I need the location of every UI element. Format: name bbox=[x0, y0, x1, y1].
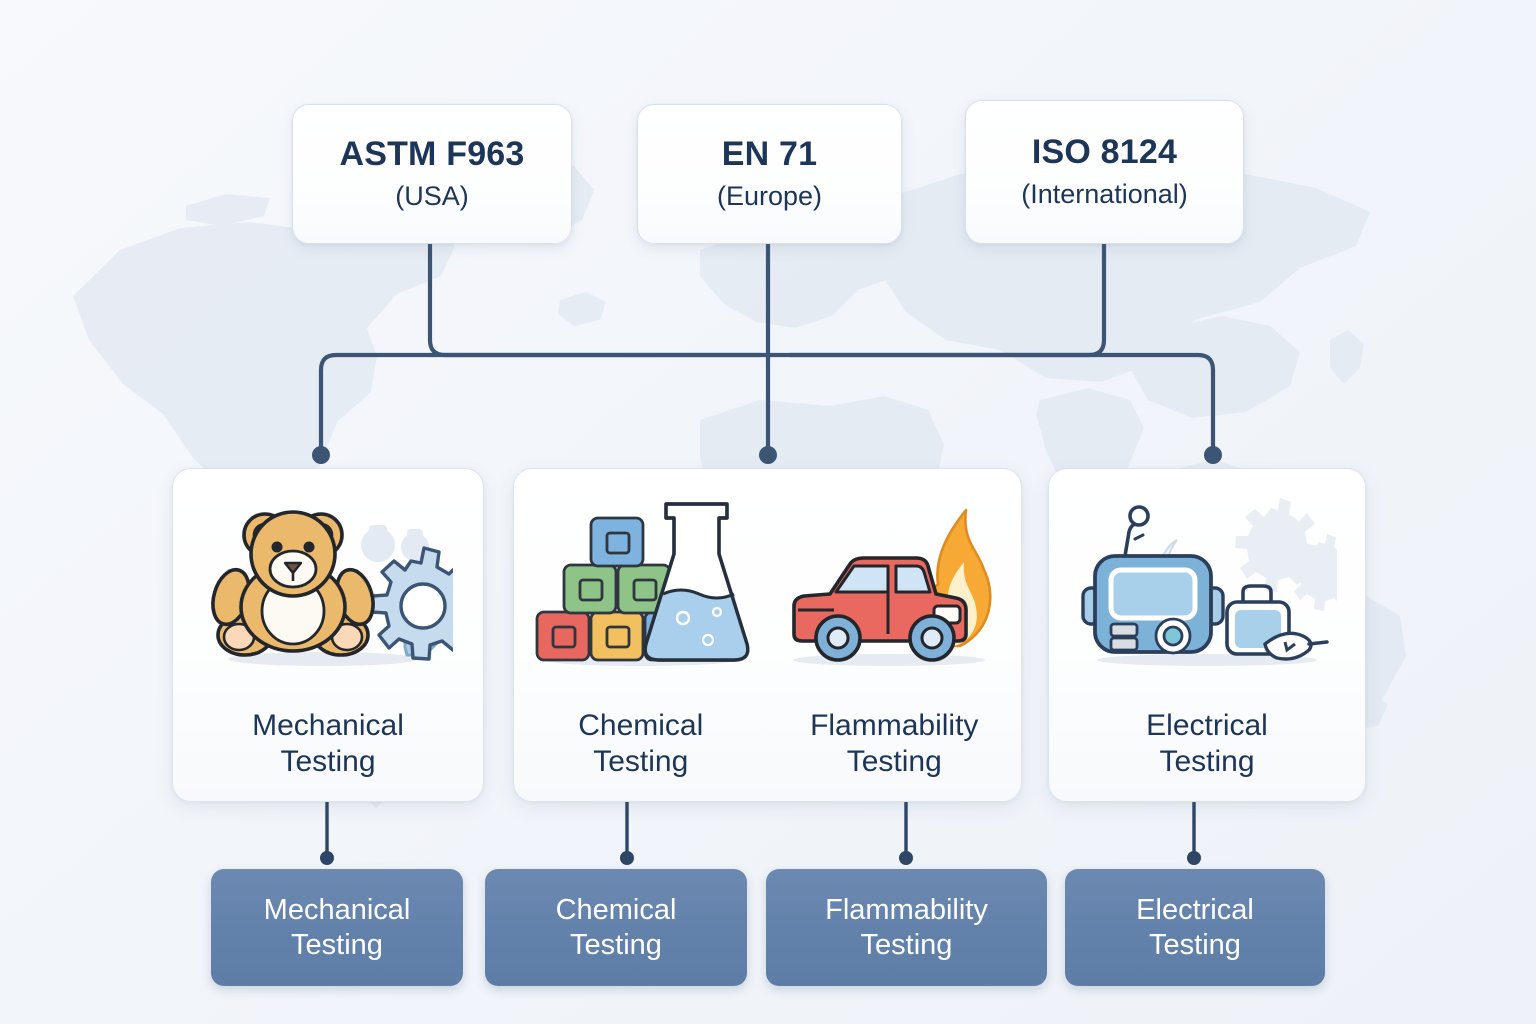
test-label-chemical: Chemical Testing bbox=[578, 708, 703, 779]
teddy-bear-gear-icon bbox=[203, 499, 453, 674]
test-card-mechanical[interactable]: Mechanical Testing bbox=[172, 468, 484, 802]
chip-label: ElectricalTesting bbox=[1136, 893, 1254, 963]
standard-card-astm-f963[interactable]: ASTM F963 (USA) bbox=[292, 104, 572, 244]
test-label-flammability: Flammability Testing bbox=[810, 708, 978, 779]
standard-region: (USA) bbox=[395, 182, 469, 210]
chip-flammability-testing[interactable]: FlammabilityTesting bbox=[766, 869, 1047, 986]
test-card-chemical-flammability[interactable]: Chemical Testing Flammability Testing bbox=[513, 468, 1022, 802]
diagram-canvas: ASTM F963 (USA) EN 71 (Europe) ISO 8124 … bbox=[0, 0, 1536, 1024]
standard-region: (International) bbox=[1021, 180, 1188, 208]
chip-chemical-testing[interactable]: ChemicalTesting bbox=[485, 869, 747, 986]
chip-label: ChemicalTesting bbox=[556, 893, 677, 963]
test-label-electrical: Electrical Testing bbox=[1146, 708, 1268, 779]
standard-card-iso-8124[interactable]: ISO 8124 (International) bbox=[965, 100, 1244, 244]
chip-label: MechanicalTesting bbox=[264, 893, 411, 963]
chip-label: FlammabilityTesting bbox=[825, 893, 988, 963]
standard-title: EN 71 bbox=[722, 137, 818, 173]
standard-card-en-71[interactable]: EN 71 (Europe) bbox=[637, 104, 902, 244]
standard-title: ASTM F963 bbox=[339, 137, 524, 173]
blocks-flask-icon bbox=[531, 494, 751, 674]
test-card-electrical[interactable]: Electrical Testing bbox=[1048, 468, 1366, 802]
chip-mechanical-testing[interactable]: MechanicalTesting bbox=[211, 869, 463, 986]
standard-region: (Europe) bbox=[717, 182, 822, 210]
burning-car-icon bbox=[784, 494, 1004, 674]
test-label-mechanical: Mechanical Testing bbox=[252, 708, 404, 779]
chip-electrical-testing[interactable]: ElectricalTesting bbox=[1065, 869, 1325, 986]
electronic-toy-battery-icon bbox=[1077, 494, 1337, 674]
standard-title: ISO 8124 bbox=[1032, 135, 1177, 171]
